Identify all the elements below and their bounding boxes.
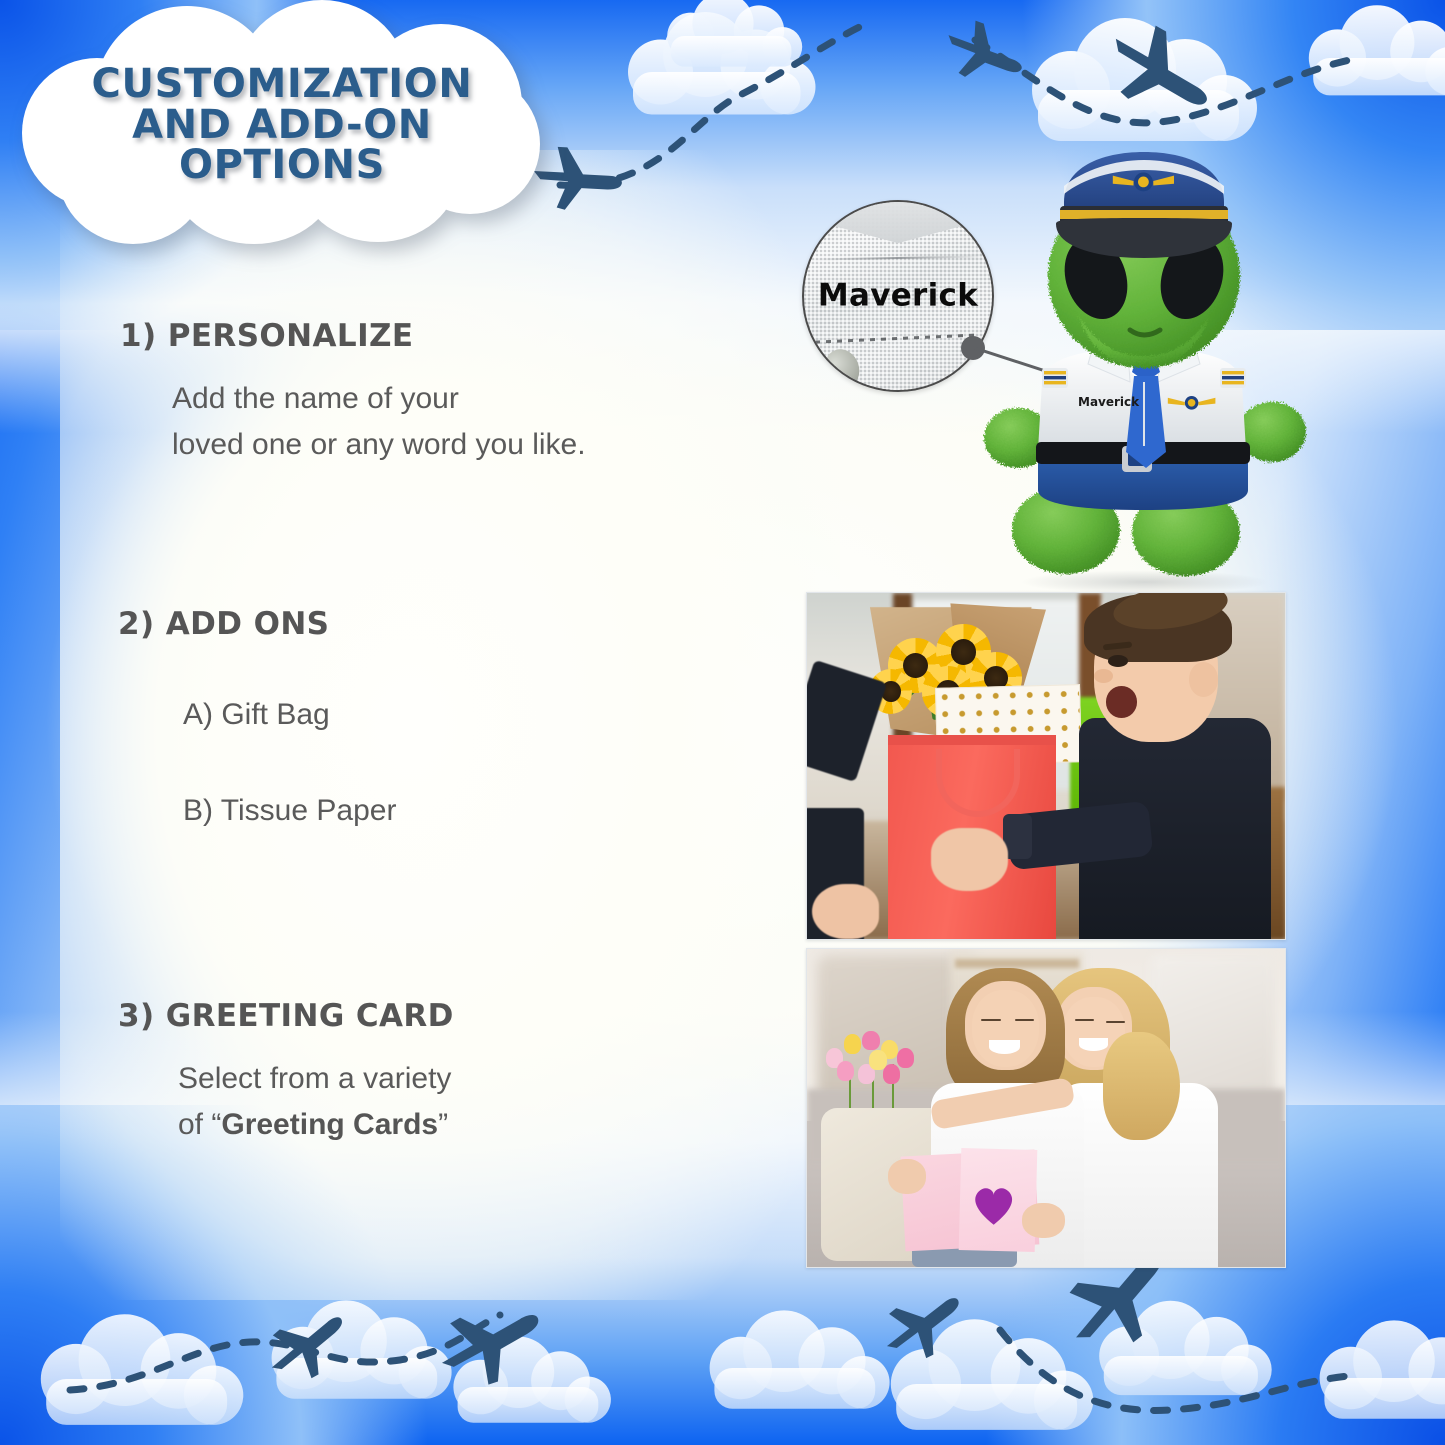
addon-option-gift-bag: A) Gift Bag — [183, 698, 396, 732]
addon-option-a-letter: A) — [183, 698, 213, 731]
daughter-hand-right — [1022, 1203, 1065, 1238]
step-1-heading: 1) PERSONALIZE — [120, 318, 586, 354]
quote-close: ” — [438, 1108, 448, 1141]
infographic-poster: CUSTOMIZATION AND ADD-ON OPTIONS 1) PERS… — [0, 0, 1445, 1445]
heart-icon — [965, 1184, 1022, 1229]
boy-surprised-mouth — [1106, 686, 1137, 717]
addon-option-b-letter: B) — [183, 794, 213, 827]
greeting-cards-emphasis: Greeting Cards — [221, 1108, 438, 1141]
step-personalize: 1) PERSONALIZE Add the name of your love… — [120, 318, 586, 467]
step-add-ons: 2) ADD ONS A) Gift Bag B) Tissue Paper — [118, 606, 396, 828]
greeting-card-photo — [806, 948, 1286, 1268]
daughter-hand-left — [888, 1159, 926, 1194]
quote-open: of “ — [178, 1108, 221, 1141]
addon-option-a-label: Gift Bag — [221, 698, 329, 731]
adult-hand — [812, 884, 879, 939]
step-3-body-line-1: Select from a variety — [178, 1056, 454, 1102]
page-title: CUSTOMIZATION AND ADD-ON OPTIONS — [22, 6, 542, 244]
step-greeting-card: 3) GREETING CARD Select from a variety o… — [118, 998, 454, 1147]
embroidery-magnifier-circle: Maverick — [802, 200, 994, 392]
tulip-bouquet — [817, 1025, 932, 1114]
alien-plush-product: Maverick — [980, 150, 1310, 590]
step-1-body-line-2: loved one or any word you like. — [172, 422, 586, 468]
step-3-body-line-2: of “Greeting Cards” — [178, 1102, 454, 1148]
magnifier-name-label: Maverick — [804, 277, 992, 313]
boy-hand — [931, 828, 1007, 890]
step-1-body-line-1: Add the name of your — [172, 376, 586, 422]
gift-bag-photo — [806, 592, 1286, 940]
product-drop-shadow — [1020, 570, 1270, 594]
shirt-embroidery-label: Maverick — [1078, 395, 1140, 409]
pilot-cap — [1056, 152, 1232, 258]
title-line-1: CUSTOMIZATION — [92, 64, 473, 105]
step-3-heading: 3) GREETING CARD — [118, 998, 454, 1034]
step-2-heading: 2) ADD ONS — [118, 606, 396, 642]
cap-gold-band — [1060, 210, 1228, 219]
addon-option-b-label: Tissue Paper — [221, 794, 397, 827]
title-line-2: AND ADD-ON — [132, 105, 432, 146]
alien-torso: Maverick — [1036, 344, 1250, 510]
alien-plush-illustration: Maverick — [980, 150, 1310, 590]
product-showcase: Maverick — [780, 150, 1340, 590]
title-line-3: OPTIONS — [179, 145, 385, 186]
addon-option-tissue-paper: B) Tissue Paper — [183, 794, 396, 828]
